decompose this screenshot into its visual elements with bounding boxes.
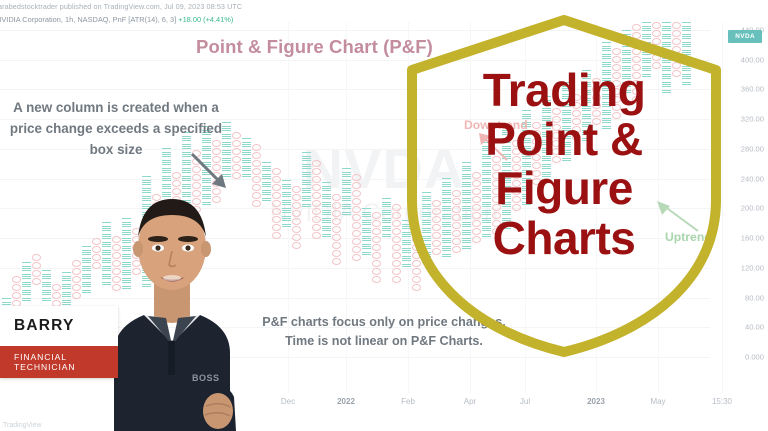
pnf-mark-x: [262, 162, 271, 169]
pnf-mark-x: [62, 280, 71, 287]
pnf-mark-x: [322, 222, 331, 229]
pnf-mark-o: [332, 210, 341, 217]
pnf-column-x: [382, 198, 391, 238]
pnf-mark-o: [292, 218, 301, 225]
price-tick: 240.00: [741, 174, 764, 183]
pnf-mark-o: [32, 278, 41, 285]
price-change: +18.00 (+4.41%): [178, 15, 233, 24]
pnf-mark-x: [2, 298, 11, 305]
pnf-mark-o: [12, 292, 21, 299]
pnf-column-o: [352, 174, 361, 262]
pnf-mark-x: [342, 176, 351, 183]
pnf-column-o: [372, 212, 381, 284]
video-frame: NVDA NVIDIA Corporation arabedstocktrade…: [0, 0, 768, 431]
time-tick: 2023: [587, 397, 605, 406]
pnf-mark-o: [252, 176, 261, 183]
time-tick: 2022: [337, 397, 355, 406]
pnf-mark-x: [82, 246, 91, 253]
pnf-mark-x: [342, 208, 351, 215]
pnf-mark-o: [372, 268, 381, 275]
pnf-mark-o: [352, 214, 361, 221]
pnf-mark-x: [322, 206, 331, 213]
pnf-mark-x: [82, 254, 91, 261]
pnf-mark-x: [242, 154, 251, 161]
pnf-mark-x: [322, 182, 331, 189]
overlay-line-3: Figure: [404, 164, 724, 213]
pnf-column-x: [42, 270, 51, 302]
pnf-mark-o: [352, 222, 361, 229]
symbol-badge: NVDA: [728, 30, 762, 43]
pnf-mark-o: [12, 284, 21, 291]
pnf-column-x: [242, 138, 251, 178]
pnf-mark-o: [372, 236, 381, 243]
pnf-mark-o: [272, 192, 281, 199]
pnf-mark-o: [332, 194, 341, 201]
pnf-mark-o: [372, 212, 381, 219]
pnf-mark-o: [352, 254, 361, 261]
pnf-mark-o: [312, 160, 321, 167]
pnf-mark-x: [42, 286, 51, 293]
pnf-mark-o: [292, 234, 301, 241]
pnf-mark-o: [292, 202, 301, 209]
pnf-column-o: [312, 160, 321, 240]
pnf-mark-o: [172, 172, 181, 179]
pnf-mark-o: [72, 292, 81, 299]
price-tick: 200.00: [741, 204, 764, 213]
pnf-mark-x: [382, 230, 391, 237]
overlay-title: Trading Point & Figure Charts: [404, 66, 724, 263]
pnf-mark-x: [62, 296, 71, 303]
pnf-mark-o: [252, 192, 261, 199]
pnf-mark-o: [332, 202, 341, 209]
pnf-mark-x: [282, 204, 291, 211]
pnf-column-o: [292, 186, 301, 250]
pnf-mark-x: [362, 208, 371, 215]
pnf-mark-x: [42, 270, 51, 277]
pnf-mark-o: [292, 186, 301, 193]
pnf-mark-x: [242, 170, 251, 177]
pnf-mark-x: [302, 192, 311, 199]
pnf-mark-o: [372, 260, 381, 267]
overlay-line-2: Point &: [404, 115, 724, 164]
pnf-mark-x: [82, 270, 91, 277]
pnf-column-x: [282, 180, 291, 228]
pnf-mark-o: [372, 244, 381, 251]
price-tick: 80.00: [745, 293, 764, 302]
pnf-mark-x: [342, 168, 351, 175]
pnf-mark-o: [12, 276, 21, 283]
pnf-mark-o: [312, 208, 321, 215]
pnf-mark-x: [262, 170, 271, 177]
pnf-mark-o: [312, 192, 321, 199]
pnf-mark-o: [332, 242, 341, 249]
price-tick: 320.00: [741, 115, 764, 124]
time-tick: Jul: [520, 397, 530, 406]
pnf-mark-x: [282, 212, 291, 219]
time-tick: Apr: [464, 397, 476, 406]
pnf-mark-o: [272, 208, 281, 215]
symbol-spec: NVIDIA Corporation, 1h, NASDAQ, PnF [ATR…: [0, 15, 176, 24]
overlay-line-4: Charts: [404, 214, 724, 263]
pnf-mark-o: [72, 276, 81, 283]
pnf-mark-o: [372, 228, 381, 235]
pnf-mark-o: [372, 252, 381, 259]
pnf-mark-x: [282, 220, 291, 227]
pnf-mark-o: [352, 174, 361, 181]
pnf-mark-x: [382, 214, 391, 221]
pnf-column-x: [322, 182, 331, 238]
pnf-column-x: [362, 208, 371, 256]
pnf-mark-x: [62, 272, 71, 279]
price-tick: 400.00: [741, 55, 764, 64]
pnf-mark-x: [302, 168, 311, 175]
pnf-mark-x: [362, 240, 371, 247]
pnf-mark-x: [362, 224, 371, 231]
pnf-mark-o: [232, 156, 241, 163]
pnf-mark-x: [242, 162, 251, 169]
pnf-column-x: [22, 262, 31, 302]
pnf-mark-x: [282, 180, 291, 187]
pnf-mark-x: [302, 152, 311, 159]
lower-third-nameplate: BARRY FINANCIAL TECHNICIAN: [0, 306, 118, 378]
price-tick: 0.000: [745, 353, 764, 362]
pnf-mark-x: [142, 176, 151, 183]
pnf-mark-x: [22, 278, 31, 285]
pnf-mark-o: [332, 258, 341, 265]
presenter-role: FINANCIAL TECHNICIAN: [0, 346, 118, 378]
pnf-mark-o: [352, 182, 361, 189]
pnf-mark-o: [252, 144, 261, 151]
pnf-mark-o: [292, 194, 301, 201]
pnf-mark-o: [312, 176, 321, 183]
pnf-mark-x: [362, 248, 371, 255]
pnf-mark-x: [342, 192, 351, 199]
pnf-mark-x: [162, 172, 171, 179]
pnf-mark-x: [282, 188, 291, 195]
pnf-mark-o: [352, 246, 361, 253]
pnf-mark-x: [322, 230, 331, 237]
pnf-mark-o: [352, 238, 361, 245]
pnf-mark-o: [332, 218, 341, 225]
pnf-mark-o: [312, 232, 321, 239]
pnf-mark-o: [252, 160, 261, 167]
pnf-column-x: [82, 246, 91, 294]
pnf-mark-x: [262, 186, 271, 193]
price-tick: 280.00: [741, 144, 764, 153]
pnf-mark-x: [342, 184, 351, 191]
price-tick: 40.00: [745, 323, 764, 332]
pnf-mark-x: [322, 214, 331, 221]
pnf-column-o: [332, 194, 341, 266]
price-tick: 120.00: [741, 263, 764, 272]
pnf-mark-o: [352, 230, 361, 237]
pnf-mark-o: [332, 234, 341, 241]
pnf-mark-o: [232, 140, 241, 147]
price-tick: 360.00: [741, 85, 764, 94]
publisher-line: arabedstocktrader published on TradingVi…: [0, 2, 768, 11]
pnf-mark-o: [292, 226, 301, 233]
pnf-mark-x: [262, 178, 271, 185]
pnf-mark-o: [312, 216, 321, 223]
pnf-mark-o: [52, 292, 61, 299]
pnf-mark-o: [372, 220, 381, 227]
pnf-mark-o: [32, 254, 41, 261]
pnf-mark-o: [232, 148, 241, 155]
pnf-mark-x: [262, 194, 271, 201]
time-tick: Dec: [281, 397, 295, 406]
pnf-column-o: [272, 168, 281, 240]
pnf-mark-o: [312, 184, 321, 191]
pnf-mark-x: [282, 196, 291, 203]
pnf-mark-x: [362, 232, 371, 239]
pnf-column-o: [232, 132, 241, 180]
pnf-mark-x: [302, 176, 311, 183]
pnf-mark-o: [272, 232, 281, 239]
pnf-mark-o: [252, 184, 261, 191]
pnf-mark-x: [22, 286, 31, 293]
pnf-mark-o: [272, 176, 281, 183]
pnf-mark-x: [302, 184, 311, 191]
pnf-mark-o: [32, 270, 41, 277]
pnf-mark-o: [272, 200, 281, 207]
pnf-mark-x: [42, 278, 51, 285]
pnf-mark-o: [72, 284, 81, 291]
pnf-mark-x: [382, 206, 391, 213]
pnf-mark-x: [382, 198, 391, 205]
pnf-column-o: [32, 254, 41, 286]
pnf-mark-o: [252, 152, 261, 159]
pnf-mark-o: [312, 168, 321, 175]
tradingview-logo[interactable]: TradingView: [3, 422, 42, 429]
pnf-mark-x: [362, 216, 371, 223]
pnf-mark-o: [252, 200, 261, 207]
pnf-mark-o: [72, 268, 81, 275]
time-tick: Feb: [401, 397, 415, 406]
pnf-mark-x: [82, 262, 91, 269]
pnf-mark-x: [342, 200, 351, 207]
pnf-mark-x: [302, 160, 311, 167]
pnf-mark-x: [82, 286, 91, 293]
pnf-mark-x: [322, 198, 331, 205]
overlay-line-1: Trading: [404, 66, 724, 115]
pnf-mark-o: [352, 198, 361, 205]
time-tick: 15:30: [712, 397, 732, 406]
pnf-column-x: [262, 162, 271, 202]
pnf-mark-x: [82, 278, 91, 285]
pnf-mark-x: [302, 200, 311, 207]
pnf-mark-o: [292, 242, 301, 249]
pnf-mark-o: [272, 224, 281, 231]
pnf-mark-x: [322, 190, 331, 197]
pnf-mark-o: [272, 184, 281, 191]
pnf-mark-x: [242, 146, 251, 153]
pnf-mark-x: [242, 138, 251, 145]
pnf-column-o: [252, 144, 261, 208]
pnf-mark-x: [382, 222, 391, 229]
pnf-mark-o: [332, 226, 341, 233]
pnf-mark-x: [162, 164, 171, 171]
pnf-mark-o: [332, 250, 341, 257]
presenter-name: BARRY: [0, 306, 118, 346]
pnf-mark-x: [22, 262, 31, 269]
pnf-mark-x: [62, 288, 71, 295]
pnf-mark-o: [272, 216, 281, 223]
pnf-mark-o: [52, 284, 61, 291]
pnf-mark-o: [252, 168, 261, 175]
pnf-mark-o: [232, 164, 241, 171]
pnf-mark-x: [42, 294, 51, 301]
pnf-mark-o: [372, 276, 381, 283]
pnf-mark-o: [272, 168, 281, 175]
pnf-mark-o: [72, 260, 81, 267]
pnf-column-x: [302, 152, 311, 208]
pnf-mark-x: [22, 270, 31, 277]
price-tick: 160.00: [741, 234, 764, 243]
pnf-mark-o: [292, 210, 301, 217]
pnf-mark-o: [312, 224, 321, 231]
pnf-column-o: [72, 260, 81, 300]
pnf-mark-o: [312, 200, 321, 207]
presenter-video: BOSS: [96, 185, 248, 431]
time-tick: May: [650, 397, 665, 406]
pnf-mark-x: [22, 294, 31, 301]
pnf-mark-o: [352, 190, 361, 197]
svg-text:BOSS: BOSS: [192, 373, 220, 383]
pnf-mark-o: [32, 262, 41, 269]
pnf-column-x: [342, 168, 351, 216]
pnf-mark-o: [232, 172, 241, 179]
pnf-mark-o: [352, 206, 361, 213]
pnf-mark-o: [232, 132, 241, 139]
